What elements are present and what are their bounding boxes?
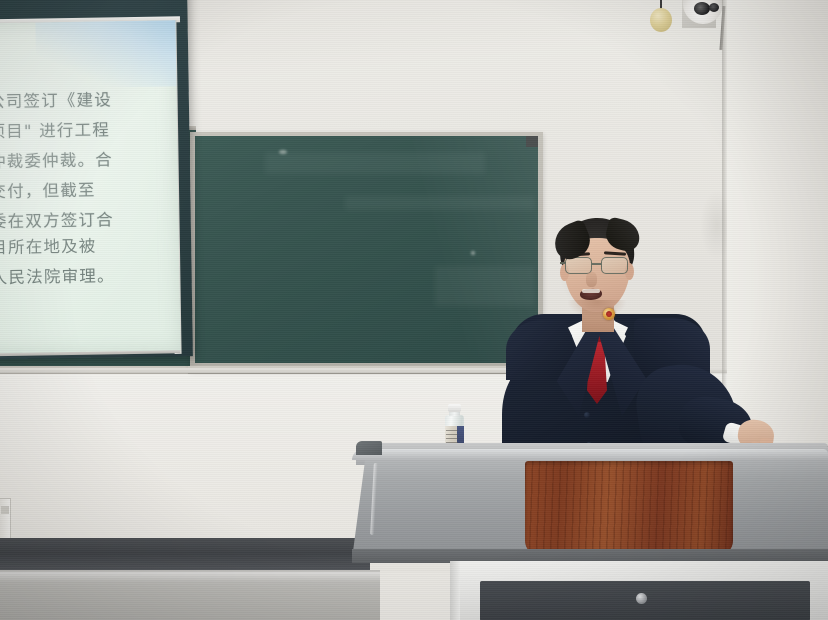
lapel-pin-center: [606, 311, 612, 317]
blackboard-haze: [265, 152, 485, 174]
chalk-dust: [279, 150, 287, 154]
wall-outlet-plate[interactable]: [0, 498, 11, 542]
wall-outlet-slot[interactable]: [1, 506, 9, 514]
blackboard-haze: [345, 196, 535, 210]
jacket-button: [584, 412, 590, 418]
camera-lens-icon: [694, 2, 710, 15]
blackboard: [190, 132, 543, 370]
glasses-icon: [562, 257, 632, 275]
lectern-corner-cap: [356, 441, 382, 455]
blackboard-corner-cap: [526, 136, 538, 147]
glasses-lens-right: [601, 257, 628, 274]
slide-line: 设计公司签订《建设: [0, 85, 159, 118]
slide-paragraph-2: 为项目所在地及被 滨区人民法院审理。: [0, 231, 162, 294]
glasses-bridge: [592, 263, 601, 265]
slide-line: 为项目所在地及被: [0, 231, 161, 264]
lectern[interactable]: [352, 437, 828, 620]
classroom-photo: 设计公司签订《建设 建设项目" 进行工程 康市仲裁委仲裁。合 均已交付，但截至 …: [0, 0, 828, 620]
glasses-temple: [560, 262, 566, 264]
slide-line: 康市仲裁委仲裁。合: [0, 145, 160, 178]
ceiling-sensor-sphere: [650, 8, 672, 32]
slide-line: 均已交付，但截至: [0, 175, 160, 208]
bottle-cap: [448, 404, 461, 412]
blackboard-surface: [195, 136, 538, 363]
lectern-panel-indicator[interactable]: [636, 593, 647, 604]
teeth: [582, 289, 600, 293]
lectern-wood-panel: [525, 461, 733, 555]
chalk-dust: [471, 251, 475, 255]
lectern-base-edge: [450, 561, 460, 620]
baseboard: [0, 538, 370, 572]
slide-background-gradient: [35, 20, 180, 88]
projector-screen-surface: 设计公司签订《建设 建设项目" 进行工程 康市仲裁委仲裁。合 均已交付，但截至 …: [0, 20, 181, 353]
jaw-shadow: [568, 300, 626, 318]
lectern-top-lip: [352, 449, 828, 460]
floor-highlight: [0, 572, 380, 582]
nose: [586, 272, 597, 287]
slide-line: 建设项目" 进行工程: [0, 115, 159, 148]
slide-line: 滨区人民法院审理。: [0, 261, 162, 294]
camera-lens-secondary-icon: [709, 3, 719, 12]
